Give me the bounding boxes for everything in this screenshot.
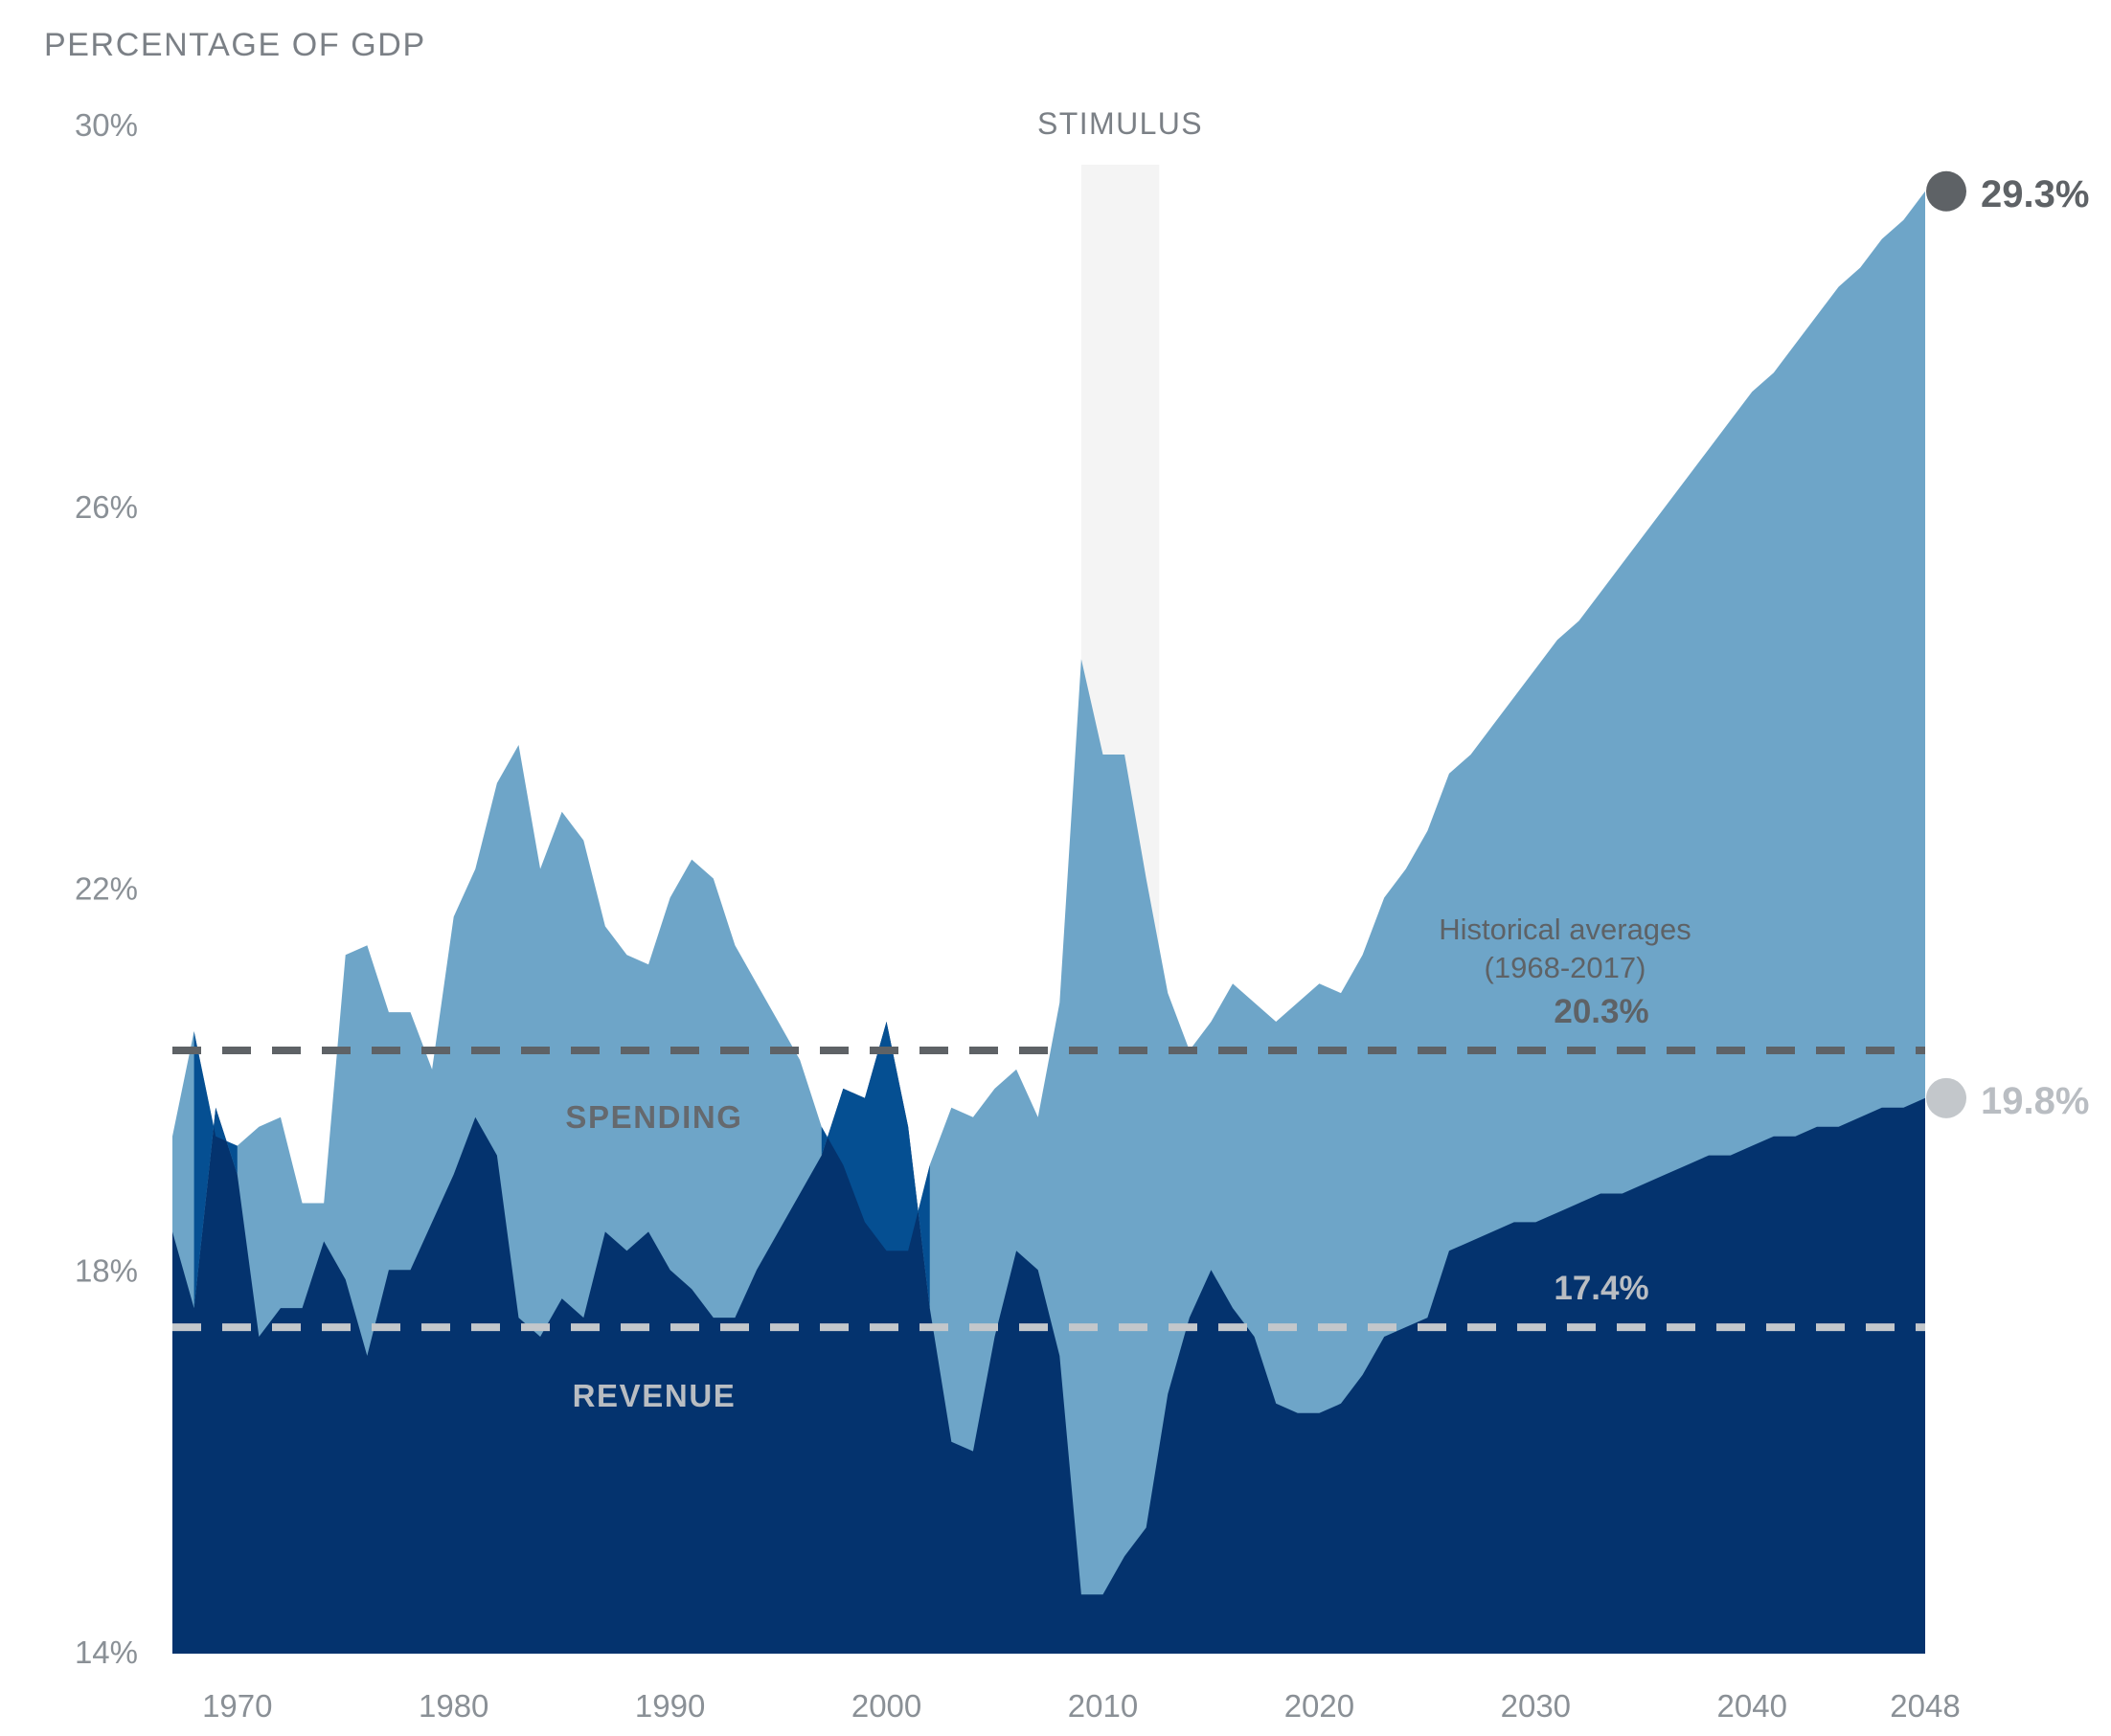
- historical-averages-line1: Historical averages: [1439, 913, 1691, 946]
- y-axis-tick-label: 22%: [75, 871, 138, 907]
- x-axis-tick-label: 1970: [202, 1688, 272, 1724]
- y-axis-tick-label: 30%: [75, 107, 138, 143]
- x-axis-tick-label: 2040: [1717, 1688, 1787, 1724]
- x-axis-ticks: 197019801990200020102020203020402048: [202, 1688, 1961, 1724]
- x-axis-tick-label: 2000: [851, 1688, 921, 1724]
- revenue-endpoint-dot: [1926, 1078, 1966, 1118]
- revenue-endpoint-label: 19.8%: [1981, 1080, 2089, 1122]
- x-axis-tick-label: 2020: [1284, 1688, 1354, 1724]
- y-axis-tick-label: 14%: [75, 1635, 138, 1670]
- spending-endpoint-dot: [1926, 171, 1966, 212]
- y-axis-ticks: 14%18%22%26%30%: [75, 107, 138, 1670]
- x-axis-tick-label: 2030: [1501, 1688, 1571, 1724]
- y-axis-tick-label: 18%: [75, 1252, 138, 1288]
- historical-averages-line2: (1968-2017): [1485, 951, 1646, 984]
- stimulus-label: STIMULUS: [1037, 106, 1203, 141]
- gdp-area-chart: 14%18%22%26%30% 197019801990200020102020…: [0, 0, 2111, 1736]
- revenue-series-label: REVENUE: [573, 1378, 737, 1413]
- y-axis-tick-label: 26%: [75, 489, 138, 525]
- revenue-average-value: 17.4%: [1554, 1270, 1648, 1307]
- x-axis-tick-label: 1980: [419, 1688, 488, 1724]
- spending-average-value: 20.3%: [1554, 993, 1648, 1030]
- chart-container: PERCENTAGE OF GDP 14%18%22%26%30% 197019…: [0, 0, 2111, 1736]
- spending-series-label: SPENDING: [565, 1099, 742, 1135]
- x-axis-tick-label: 2048: [1890, 1688, 1960, 1724]
- spending-endpoint-label: 29.3%: [1981, 173, 2089, 215]
- x-axis-tick-label: 2010: [1068, 1688, 1138, 1724]
- x-axis-tick-label: 1990: [635, 1688, 705, 1724]
